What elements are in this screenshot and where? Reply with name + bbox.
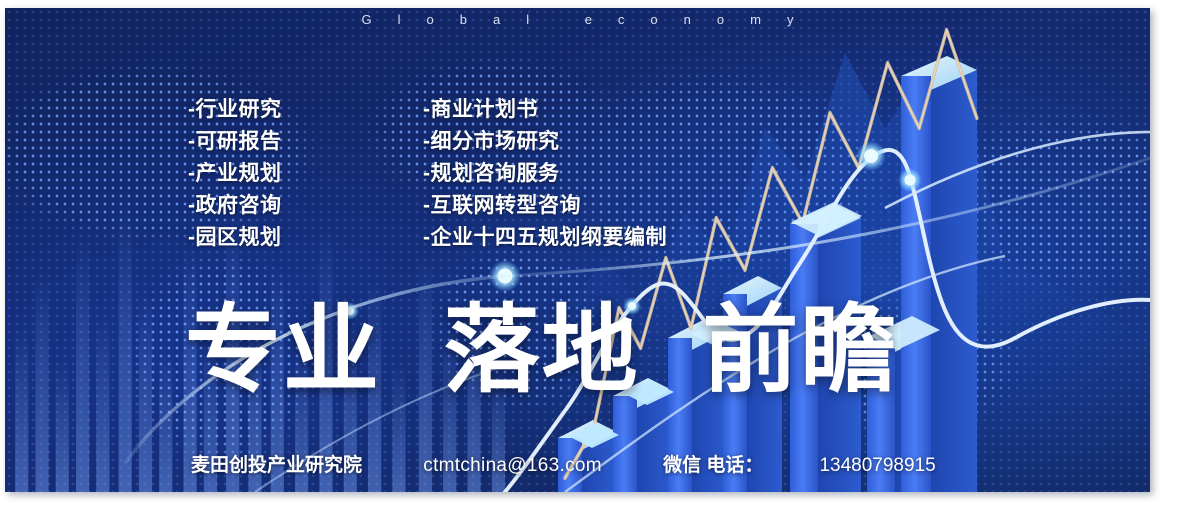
banner-top-word: Global economy (5, 12, 1150, 27)
email-address[interactable]: ctmtchina@163.com (423, 455, 602, 476)
headline-word: 前瞻 (702, 297, 898, 404)
org-name: 麦田创投产业研究院 (191, 455, 362, 476)
service-item: -细分市场研究 (423, 126, 667, 158)
service-column-right: -商业计划书 -细分市场研究 -规划咨询服务 -互联网转型咨询 -企业十四五规划… (423, 94, 667, 254)
service-item: -商业计划书 (423, 94, 667, 126)
service-column-left: -行业研究 -可研报告 -产业规划 -政府咨询 -园区规划 (188, 94, 282, 254)
service-item: -可研报告 (188, 126, 282, 158)
headline-word: 落地 (444, 297, 640, 404)
contact-label: 微信 电话： (663, 455, 763, 476)
service-item: -规划咨询服务 (423, 158, 667, 190)
page-root: Global economy -行业研究 -可研报告 -产业规划 -政府咨询 -… (0, 0, 1177, 514)
service-item: -互联网转型咨询 (423, 190, 667, 222)
phone-number[interactable]: 13480798915 (819, 455, 935, 476)
service-item: -企业十四五规划纲要编制 (423, 222, 667, 254)
banner-headline: 专业 落地 前瞻 (185, 303, 898, 399)
service-item: -产业规划 (188, 158, 282, 190)
headline-word: 专业 (185, 297, 381, 404)
banner-footer: 麦田创投产业研究院 ctmtchina@163.com 微信 电话：134807… (191, 450, 936, 477)
promo-banner: Global economy -行业研究 -可研报告 -产业规划 -政府咨询 -… (5, 8, 1150, 492)
service-item: -政府咨询 (188, 190, 282, 222)
service-item: -行业研究 (188, 94, 282, 126)
service-item: -园区规划 (188, 222, 282, 254)
